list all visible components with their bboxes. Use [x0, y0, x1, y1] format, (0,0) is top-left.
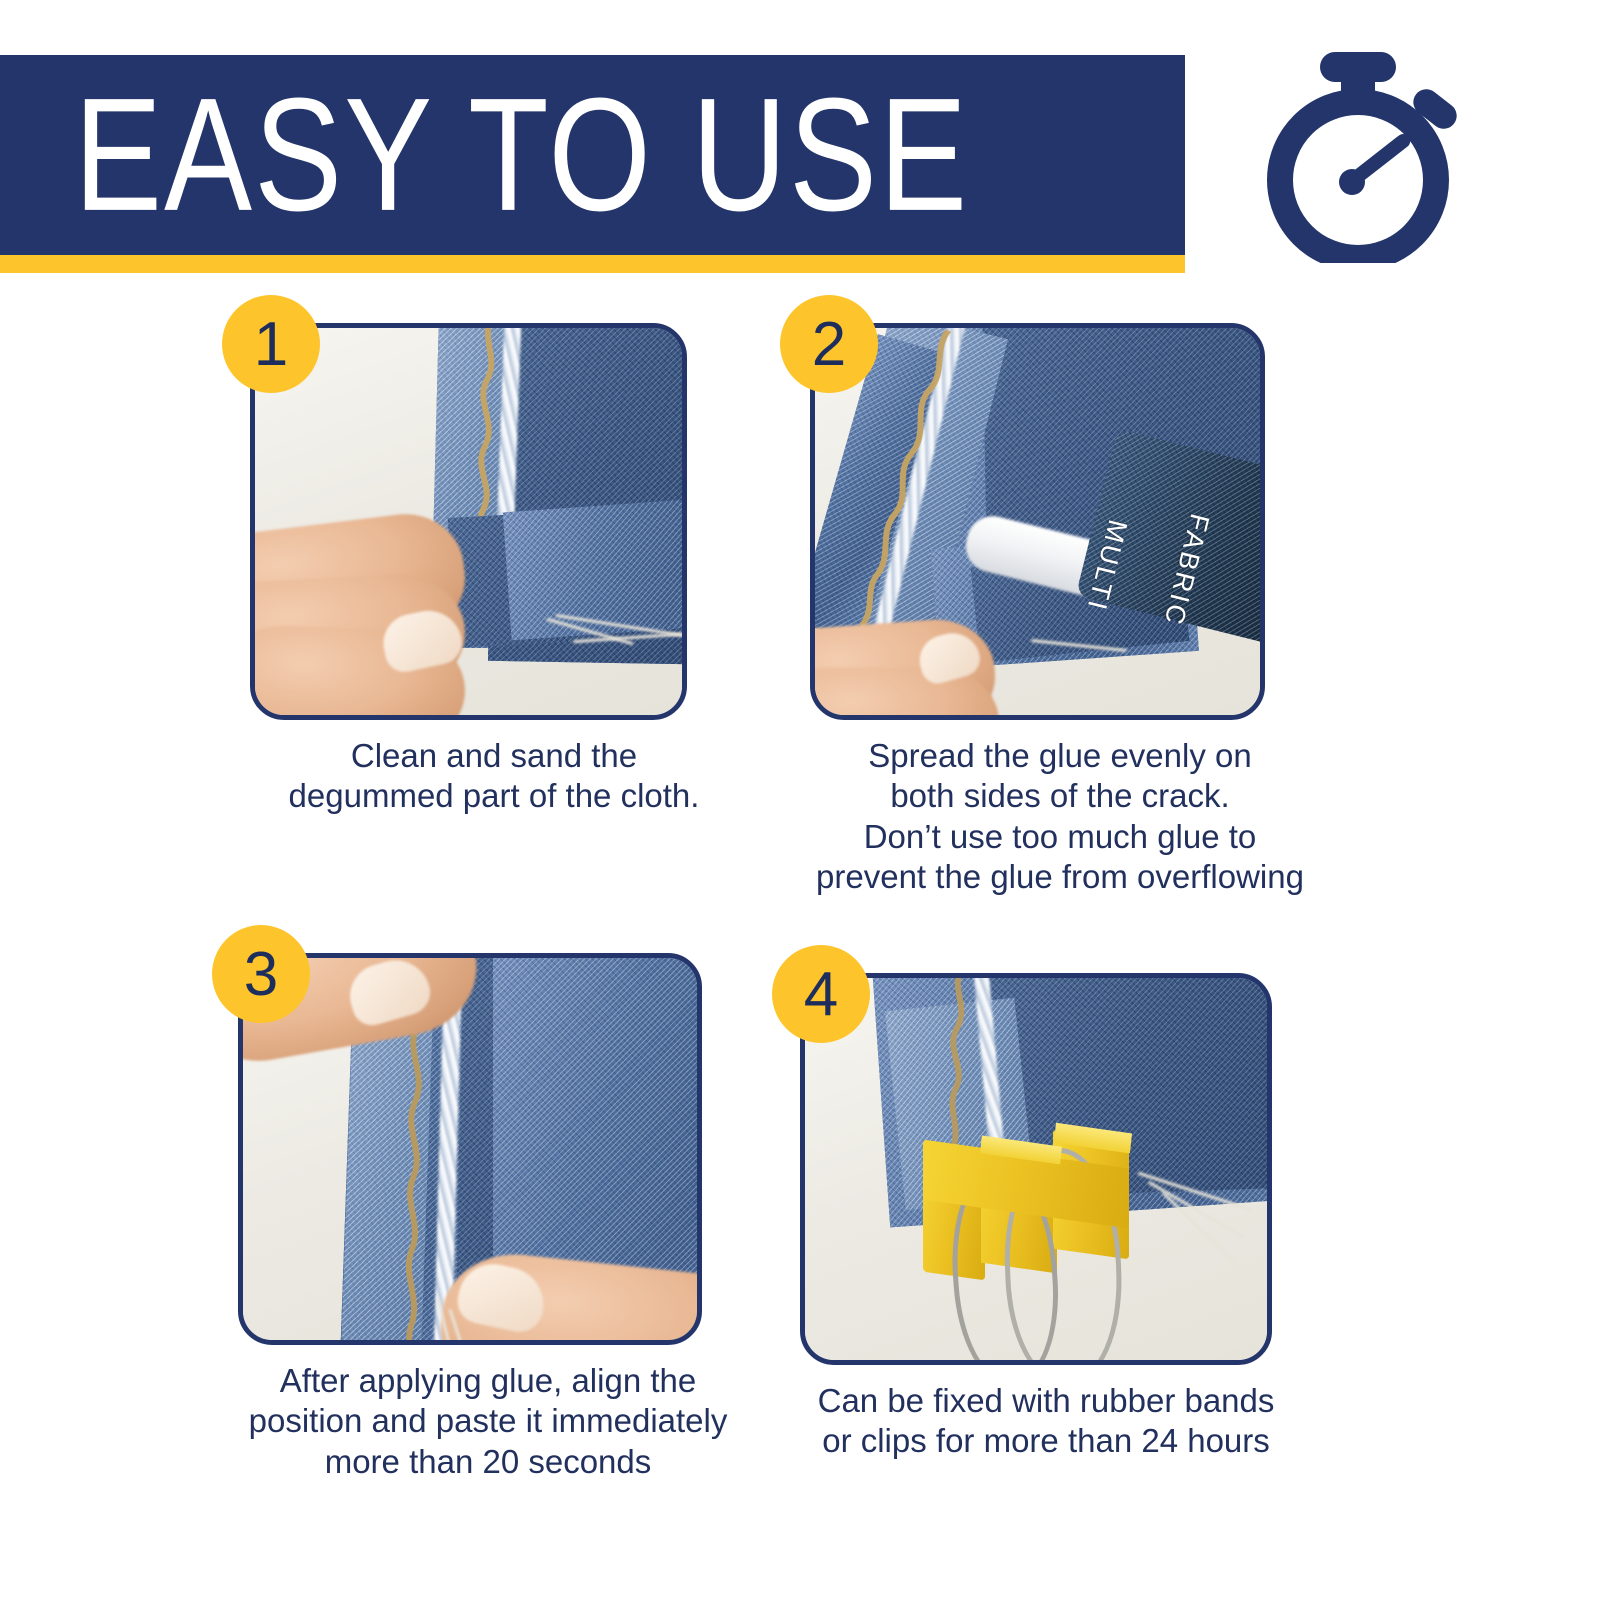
step-2-photo: MULTI FABRIC	[810, 323, 1265, 720]
step-caption-1: Clean and sand the degummed part of the …	[214, 736, 774, 817]
step-caption-3: After applying glue, align the position …	[208, 1361, 768, 1482]
step-4-photo-wrap: 4	[772, 945, 1272, 1365]
step-1-photo	[250, 323, 687, 720]
step-3-photo-wrap: 3	[212, 925, 702, 1345]
stopwatch-icon	[1228, 48, 1498, 263]
step-card-3: 3 After applying glue, align the positio…	[212, 925, 772, 1482]
step-4-photo	[800, 973, 1272, 1365]
step-card-1: 1 Clean and sand the degummed part of th…	[222, 295, 782, 817]
step-card-2: MULTI FABRIC 2 Spread the glue evenly on…	[780, 295, 1340, 897]
step-badge-4: 4	[772, 945, 870, 1043]
step-3-photo	[238, 953, 702, 1345]
step-card-4: 4 Can be fixed with rubber bands or clip…	[772, 945, 1332, 1462]
step-badge-2: 2	[780, 295, 878, 393]
page-title: EASY TO USE	[0, 74, 969, 235]
step-badge-1: 1	[222, 295, 320, 393]
step-1-photo-wrap: 1	[222, 295, 687, 720]
step-2-photo-wrap: MULTI FABRIC 2	[780, 295, 1265, 720]
step-caption-2: Spread the glue evenly on both sides of …	[780, 736, 1340, 897]
header-banner: EASY TO USE	[0, 55, 1185, 255]
steps-grid: 1 Clean and sand the degummed part of th…	[0, 295, 1600, 1600]
step-badge-3: 3	[212, 925, 310, 1023]
step-caption-4: Can be fixed with rubber bands or clips …	[766, 1381, 1326, 1462]
header-accent-bar	[0, 255, 1185, 273]
